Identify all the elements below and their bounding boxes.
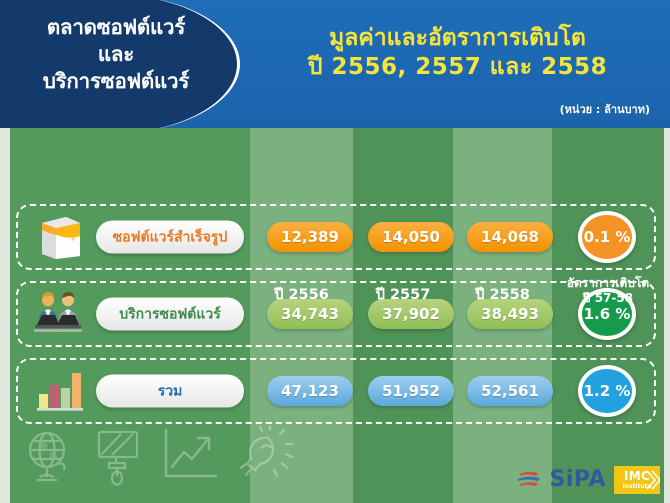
value-2558: 14,068 <box>467 222 553 252</box>
sipa-wordmark: SiPA <box>549 469 606 491</box>
globe-icon <box>20 428 74 486</box>
computer-monitor-icon <box>88 428 146 486</box>
growth-line-chart-icon <box>160 426 220 484</box>
column-header-2557: ปี 2557 <box>353 286 453 304</box>
column-header-2558: ปี 2558 <box>453 286 552 304</box>
header-banner: มูลค่าและอัตราการเติบโต ปี 2556, 2557 แล… <box>0 0 670 128</box>
table-row[interactable]: ซอฟต์แวร์สำเร็จรูป 12,389 14,050 14,068 … <box>16 204 656 270</box>
value-2558: 52,561 <box>467 376 553 406</box>
header-badge-title: ตลาดซอฟต์แวร์ และ บริการซอฟต์แวร์ <box>0 14 232 95</box>
row-label-packaged-software: ซอฟต์แวร์สำเร็จรูป <box>96 221 244 254</box>
badge-line-2: และ <box>0 41 232 68</box>
value-2556: 12,389 <box>267 222 353 252</box>
imc-chevron-icon <box>642 466 660 494</box>
badge-line-1: ตลาดซอฟต์แวร์ <box>0 14 232 41</box>
column-header-2556: ปี 2556 <box>250 286 353 304</box>
software-box-icon <box>32 214 90 260</box>
badge-line-3: บริการซอฟต์แวร์ <box>0 68 232 95</box>
lightbulb-icon <box>232 426 294 484</box>
two-people-laptops-icon <box>32 291 90 337</box>
main-title-line2: ปี 2556, 2557 และ 2558 <box>245 53 670 82</box>
table-body: ปี 2556 ปี 2557 ปี 2558 อัตราการเติบโต ป… <box>0 128 670 503</box>
table-row[interactable]: รวม 47,123 51,952 52,561 1.2 % <box>16 358 656 424</box>
sipa-mark-icon <box>515 469 545 491</box>
row-label-total: รวม <box>96 375 244 408</box>
row-label-software-services: บริการซอฟต์แวร์ <box>96 298 244 331</box>
main-title-line1: มูลค่าและอัตราการเติบโต <box>245 24 670 53</box>
header-title-block: มูลค่าและอัตราการเติบโต ปี 2556, 2557 แล… <box>245 0 670 128</box>
logo-area: SiPA IMC Institute <box>515 463 660 497</box>
column-header-growth: อัตราการเติบโต ปี 57-58 <box>552 276 664 306</box>
bar-chart-icon <box>32 368 90 414</box>
column-header-growth-line1: อัตราการเติบโต <box>552 276 664 291</box>
unit-note: (หน่วย : ล้านบาท) <box>560 100 650 118</box>
right-edge-strip <box>664 128 670 503</box>
left-edge-strip <box>0 128 10 503</box>
infographic-root: มูลค่าและอัตราการเติบโต ปี 2556, 2557 แล… <box>0 0 670 503</box>
value-2557: 51,952 <box>368 376 454 406</box>
imc-institute-logo[interactable]: IMC Institute <box>614 466 660 494</box>
growth-rate-badge: 0.1 % <box>578 211 636 263</box>
sipa-logo[interactable]: SiPA <box>515 469 606 491</box>
growth-rate-badge: 1.2 % <box>578 365 636 417</box>
column-header-growth-line2: ปี 57-58 <box>552 291 664 306</box>
main-title: มูลค่าและอัตราการเติบโต ปี 2556, 2557 แล… <box>245 24 670 82</box>
value-2556: 47,123 <box>267 376 353 406</box>
value-2557: 14,050 <box>368 222 454 252</box>
